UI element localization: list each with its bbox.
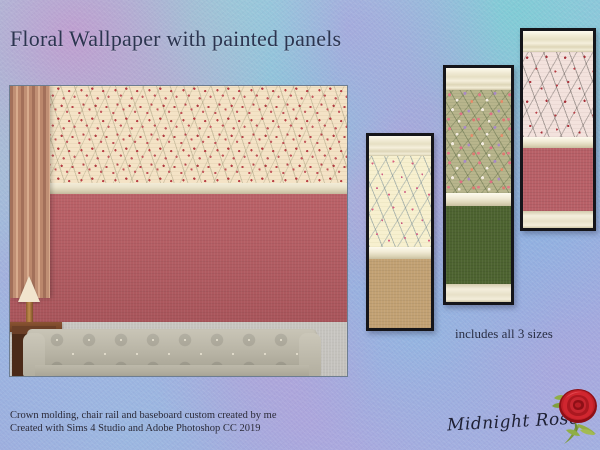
painted-panel-tan bbox=[369, 259, 431, 328]
credits-block: Crown molding, chair rail and baseboard … bbox=[10, 409, 277, 435]
tufted-sofa bbox=[27, 329, 317, 377]
crown-molding bbox=[523, 31, 593, 52]
includes-sizes-note: includes all 3 sizes bbox=[455, 326, 553, 342]
painted-panel-rose bbox=[523, 148, 593, 211]
room-preview-image bbox=[9, 85, 348, 377]
rose-icon bbox=[546, 386, 600, 446]
baseboard bbox=[446, 284, 511, 302]
wallpaper-pattern-blush bbox=[523, 52, 593, 137]
swatch-small-cream[interactable] bbox=[366, 133, 434, 331]
wallpaper-product-poster: Floral Wallpaper with painted panels bbox=[0, 0, 600, 450]
swatch-medium-sage[interactable] bbox=[443, 65, 514, 305]
curtain bbox=[10, 86, 50, 298]
crown-molding bbox=[446, 68, 511, 90]
room-wallpaper-upper bbox=[10, 86, 347, 184]
table-lamp-shade-icon bbox=[18, 276, 40, 302]
credit-line-2: Created with Sims 4 Studio and Adobe Pho… bbox=[10, 422, 277, 435]
credit-line-1: Crown molding, chair rail and baseboard … bbox=[10, 409, 277, 422]
table-lamp-base bbox=[26, 302, 33, 324]
coffee-table-top bbox=[54, 376, 269, 377]
page-title: Floral Wallpaper with painted panels bbox=[10, 26, 341, 52]
baseboard bbox=[523, 211, 593, 228]
wallpaper-pattern-cream bbox=[369, 156, 431, 247]
swatch-large-blush[interactable] bbox=[520, 28, 596, 231]
crown-molding bbox=[369, 136, 431, 156]
coffee-table bbox=[54, 376, 269, 377]
wallpaper-pattern-sage bbox=[446, 90, 511, 193]
chair-rail bbox=[369, 247, 431, 259]
chair-rail bbox=[523, 137, 593, 148]
chair-rail bbox=[446, 193, 511, 206]
room-painted-panel bbox=[10, 194, 347, 322]
painted-panel-green bbox=[446, 206, 511, 284]
sofa-tufting-pattern bbox=[49, 332, 299, 365]
